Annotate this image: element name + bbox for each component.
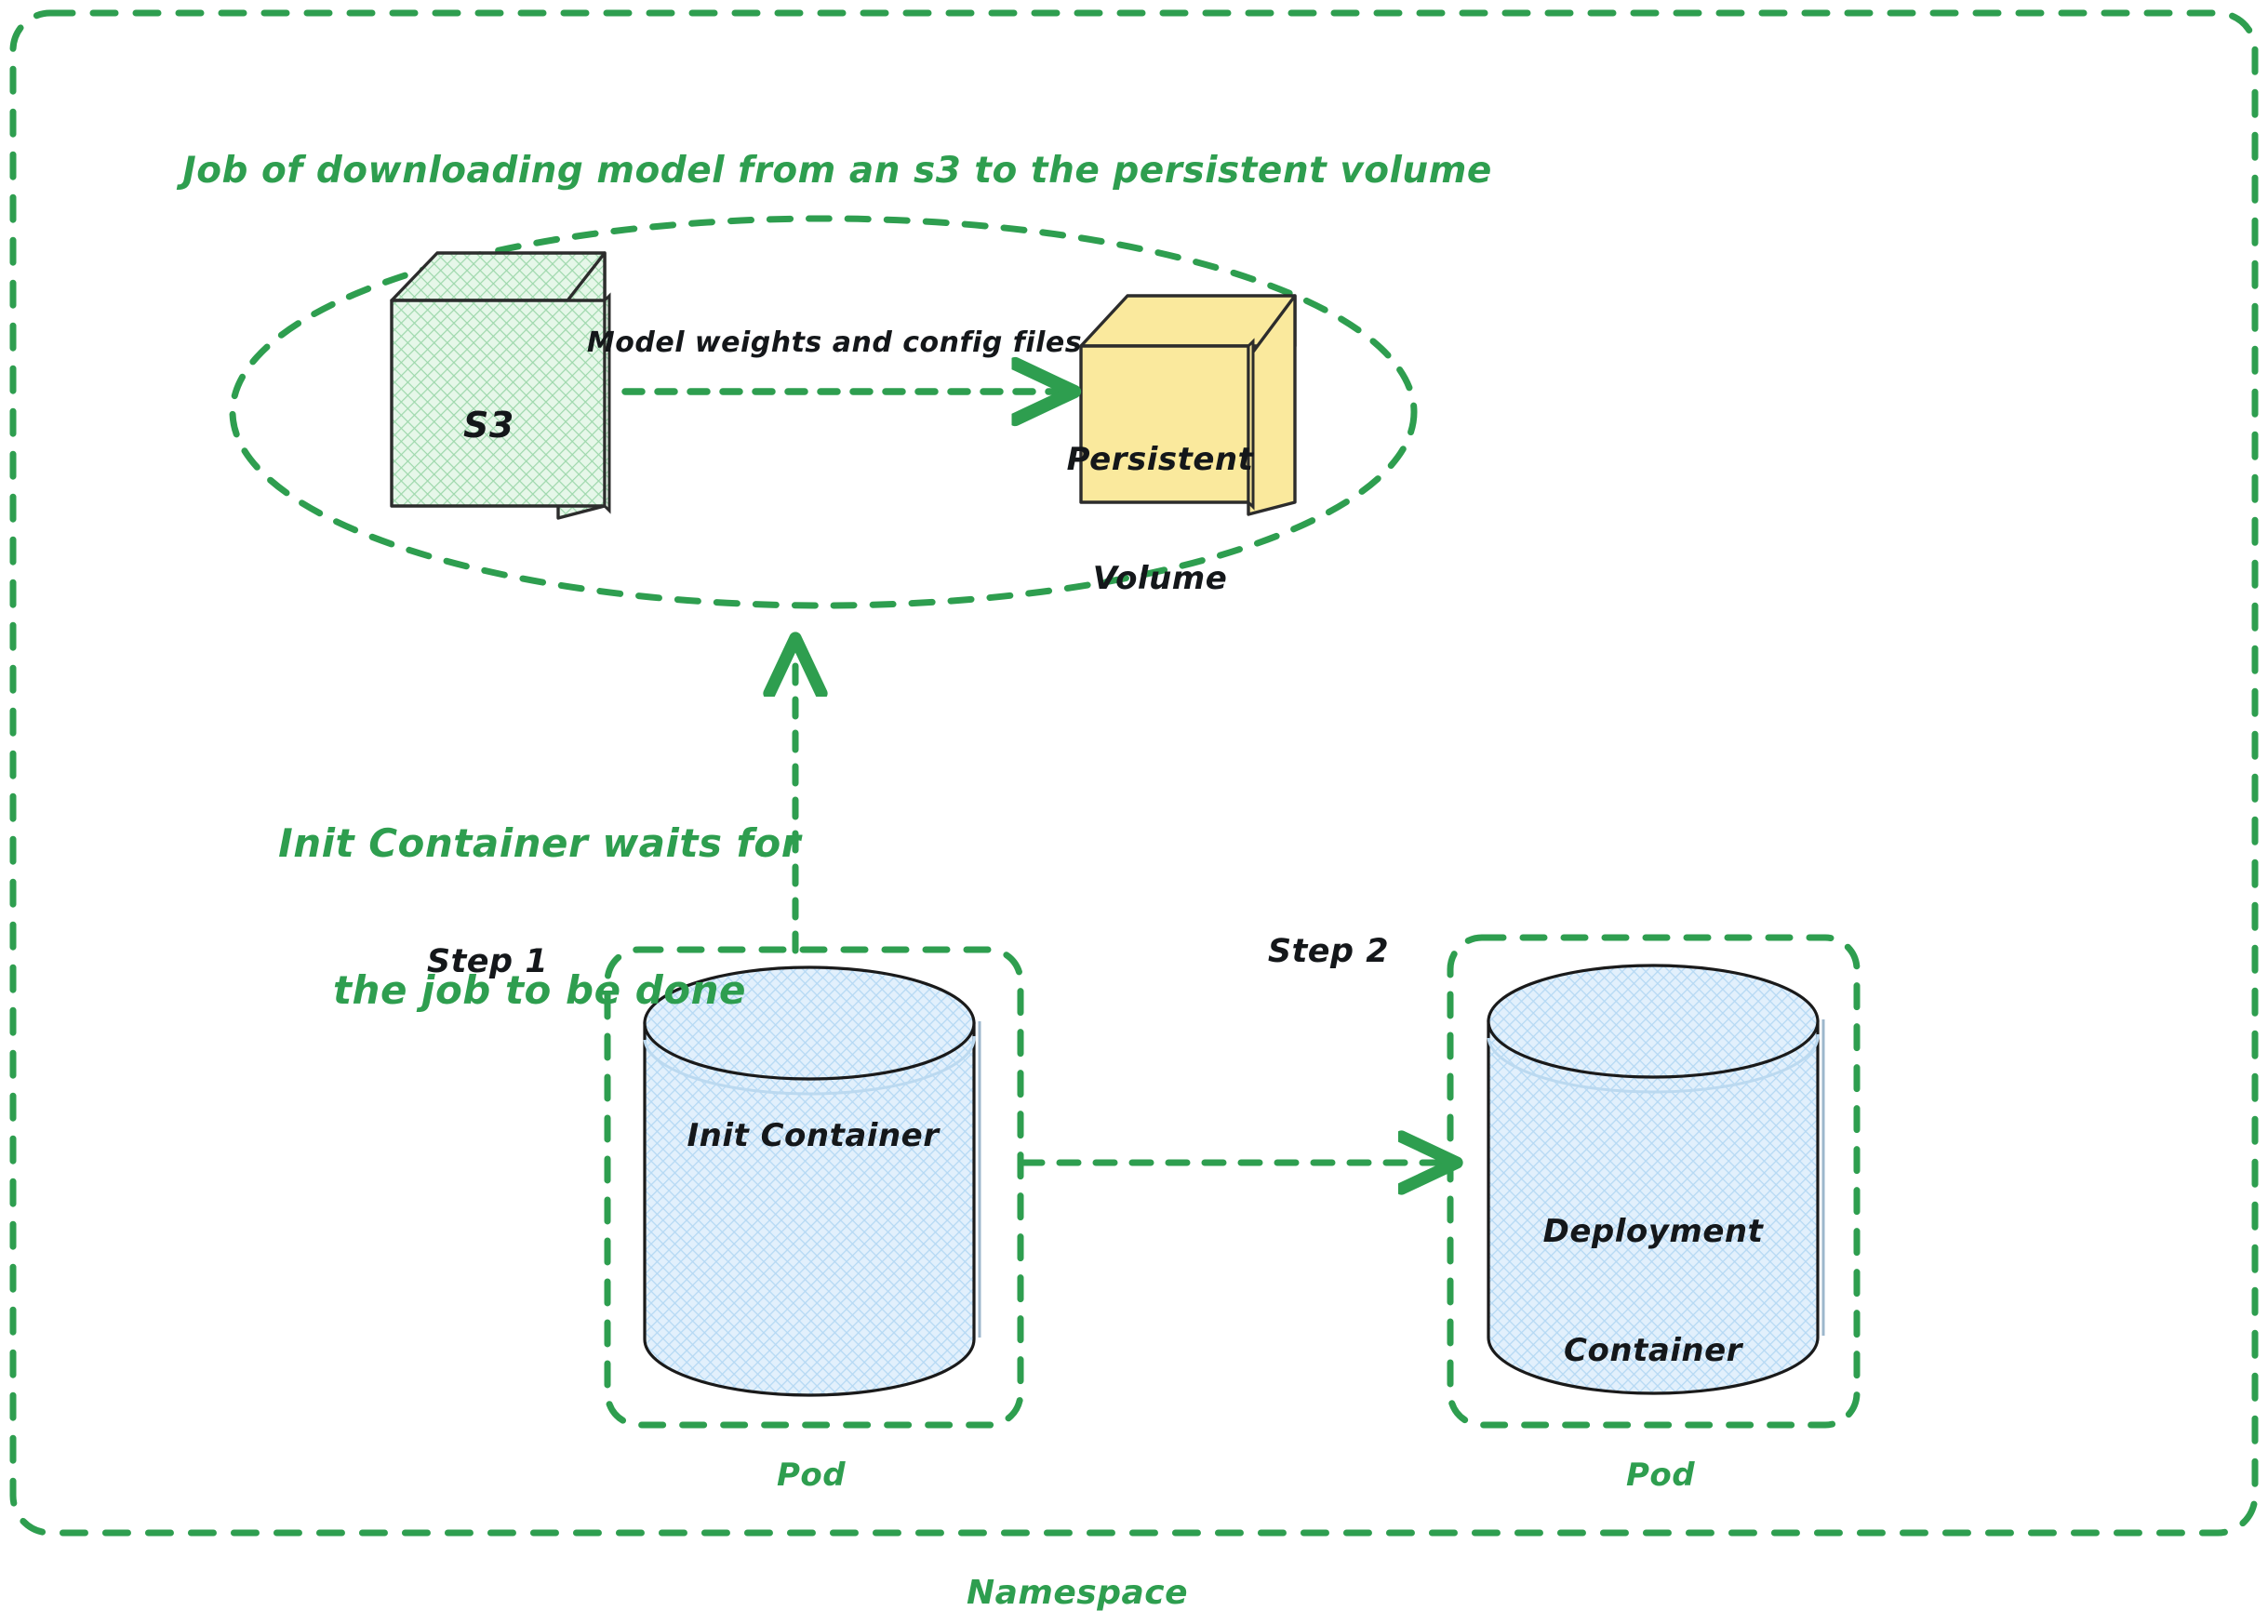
s3-cube — [392, 253, 609, 518]
init-waits-note: Init Container waits for the job to be d… — [278, 722, 801, 1112]
persistent-volume-label: Persistent Volume — [1067, 361, 1254, 677]
deployment-container-label-line-2: Container — [1543, 1331, 1764, 1371]
persistent-volume-label-line-1: Persistent — [1067, 440, 1254, 480]
step-1-label: Step 1 — [427, 942, 548, 983]
step-2-label: Step 2 — [1268, 932, 1389, 973]
init-waits-note-line-1: Init Container waits for — [278, 819, 801, 869]
model-transfer-arrow-label: Model weights and config files — [587, 326, 1082, 361]
pod-2-label: Pod — [1626, 1456, 1695, 1496]
init-container-label: Init Container — [687, 1116, 940, 1156]
job-group-title: Job of downloading model from an s3 to t… — [182, 149, 1492, 194]
deployment-container-label: Deployment Container — [1543, 1133, 1764, 1449]
s3-cube-label: S3 — [463, 404, 514, 448]
namespace-label: Namespace — [967, 1572, 1188, 1614]
deployment-container-label-line-1: Deployment — [1543, 1212, 1764, 1252]
pod-1-label: Pod — [777, 1456, 846, 1496]
diagram-canvas: Job of downloading model from an s3 to t… — [0, 0, 2268, 1624]
persistent-volume-label-line-2: Volume — [1067, 559, 1254, 599]
